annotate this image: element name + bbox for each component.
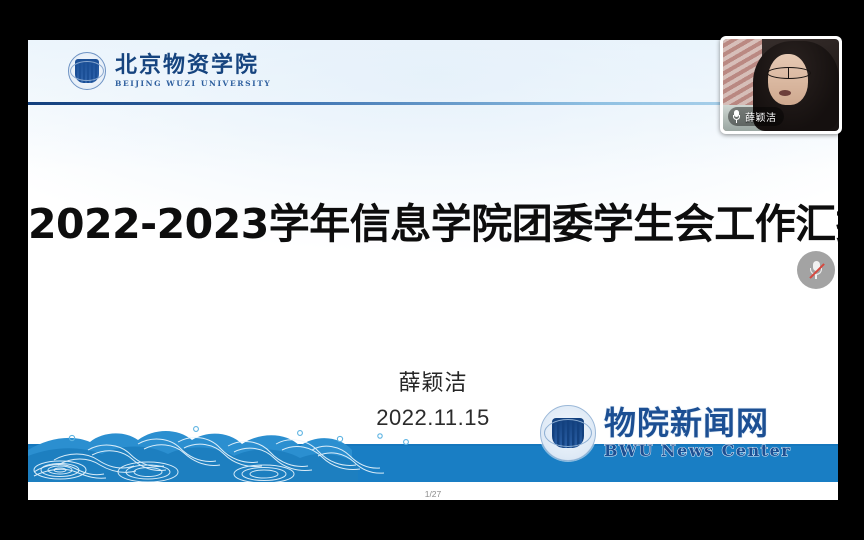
- institution-name-cn: 北京物资学院: [115, 55, 271, 77]
- title-block: 2022-2023学年信息学院团委学生会工作汇报: [28, 190, 838, 250]
- participant-nametag: 薛颖洁: [728, 107, 784, 126]
- channel-watermark: 物院新闻网 BWU News Center: [540, 405, 791, 461]
- institution-name-en: BEIJING WUZI UNIVERSITY: [115, 80, 271, 88]
- microphone-icon: [732, 110, 741, 123]
- slide-title: 2022-2023学年信息学院团委学生会工作汇报: [28, 190, 838, 250]
- presenter-video-tile[interactable]: 薛颖洁: [720, 36, 842, 134]
- participant-face: [768, 54, 807, 106]
- university-seal-icon: [68, 52, 106, 90]
- watermark-title-cn: 物院新闻网: [604, 407, 791, 439]
- mute-toggle-button[interactable]: [797, 251, 835, 289]
- watermark-title-en: BWU News Center: [604, 443, 791, 459]
- slide-page-indicator: 1/27: [28, 489, 838, 499]
- participant-name-label: 薛颖洁: [745, 109, 777, 124]
- screen-canvas: 北京物资学院 BEIJING WUZI UNIVERSITY 2022-2023…: [0, 0, 864, 540]
- header-divider: [28, 102, 838, 105]
- presenter-name: 薛颖洁: [28, 365, 838, 397]
- glasses-icon: [767, 67, 811, 79]
- microphone-muted-icon: [809, 260, 824, 280]
- university-brand: 北京物资学院 BEIJING WUZI UNIVERSITY: [68, 52, 271, 90]
- watermark-text: 物院新闻网 BWU News Center: [604, 407, 791, 459]
- video-feed[interactable]: 薛颖洁: [723, 39, 839, 131]
- slide-header: 北京物资学院 BEIJING WUZI UNIVERSITY: [28, 40, 838, 102]
- university-brand-text: 北京物资学院 BEIJING WUZI UNIVERSITY: [115, 55, 271, 88]
- bwu-seal-icon: [540, 405, 596, 461]
